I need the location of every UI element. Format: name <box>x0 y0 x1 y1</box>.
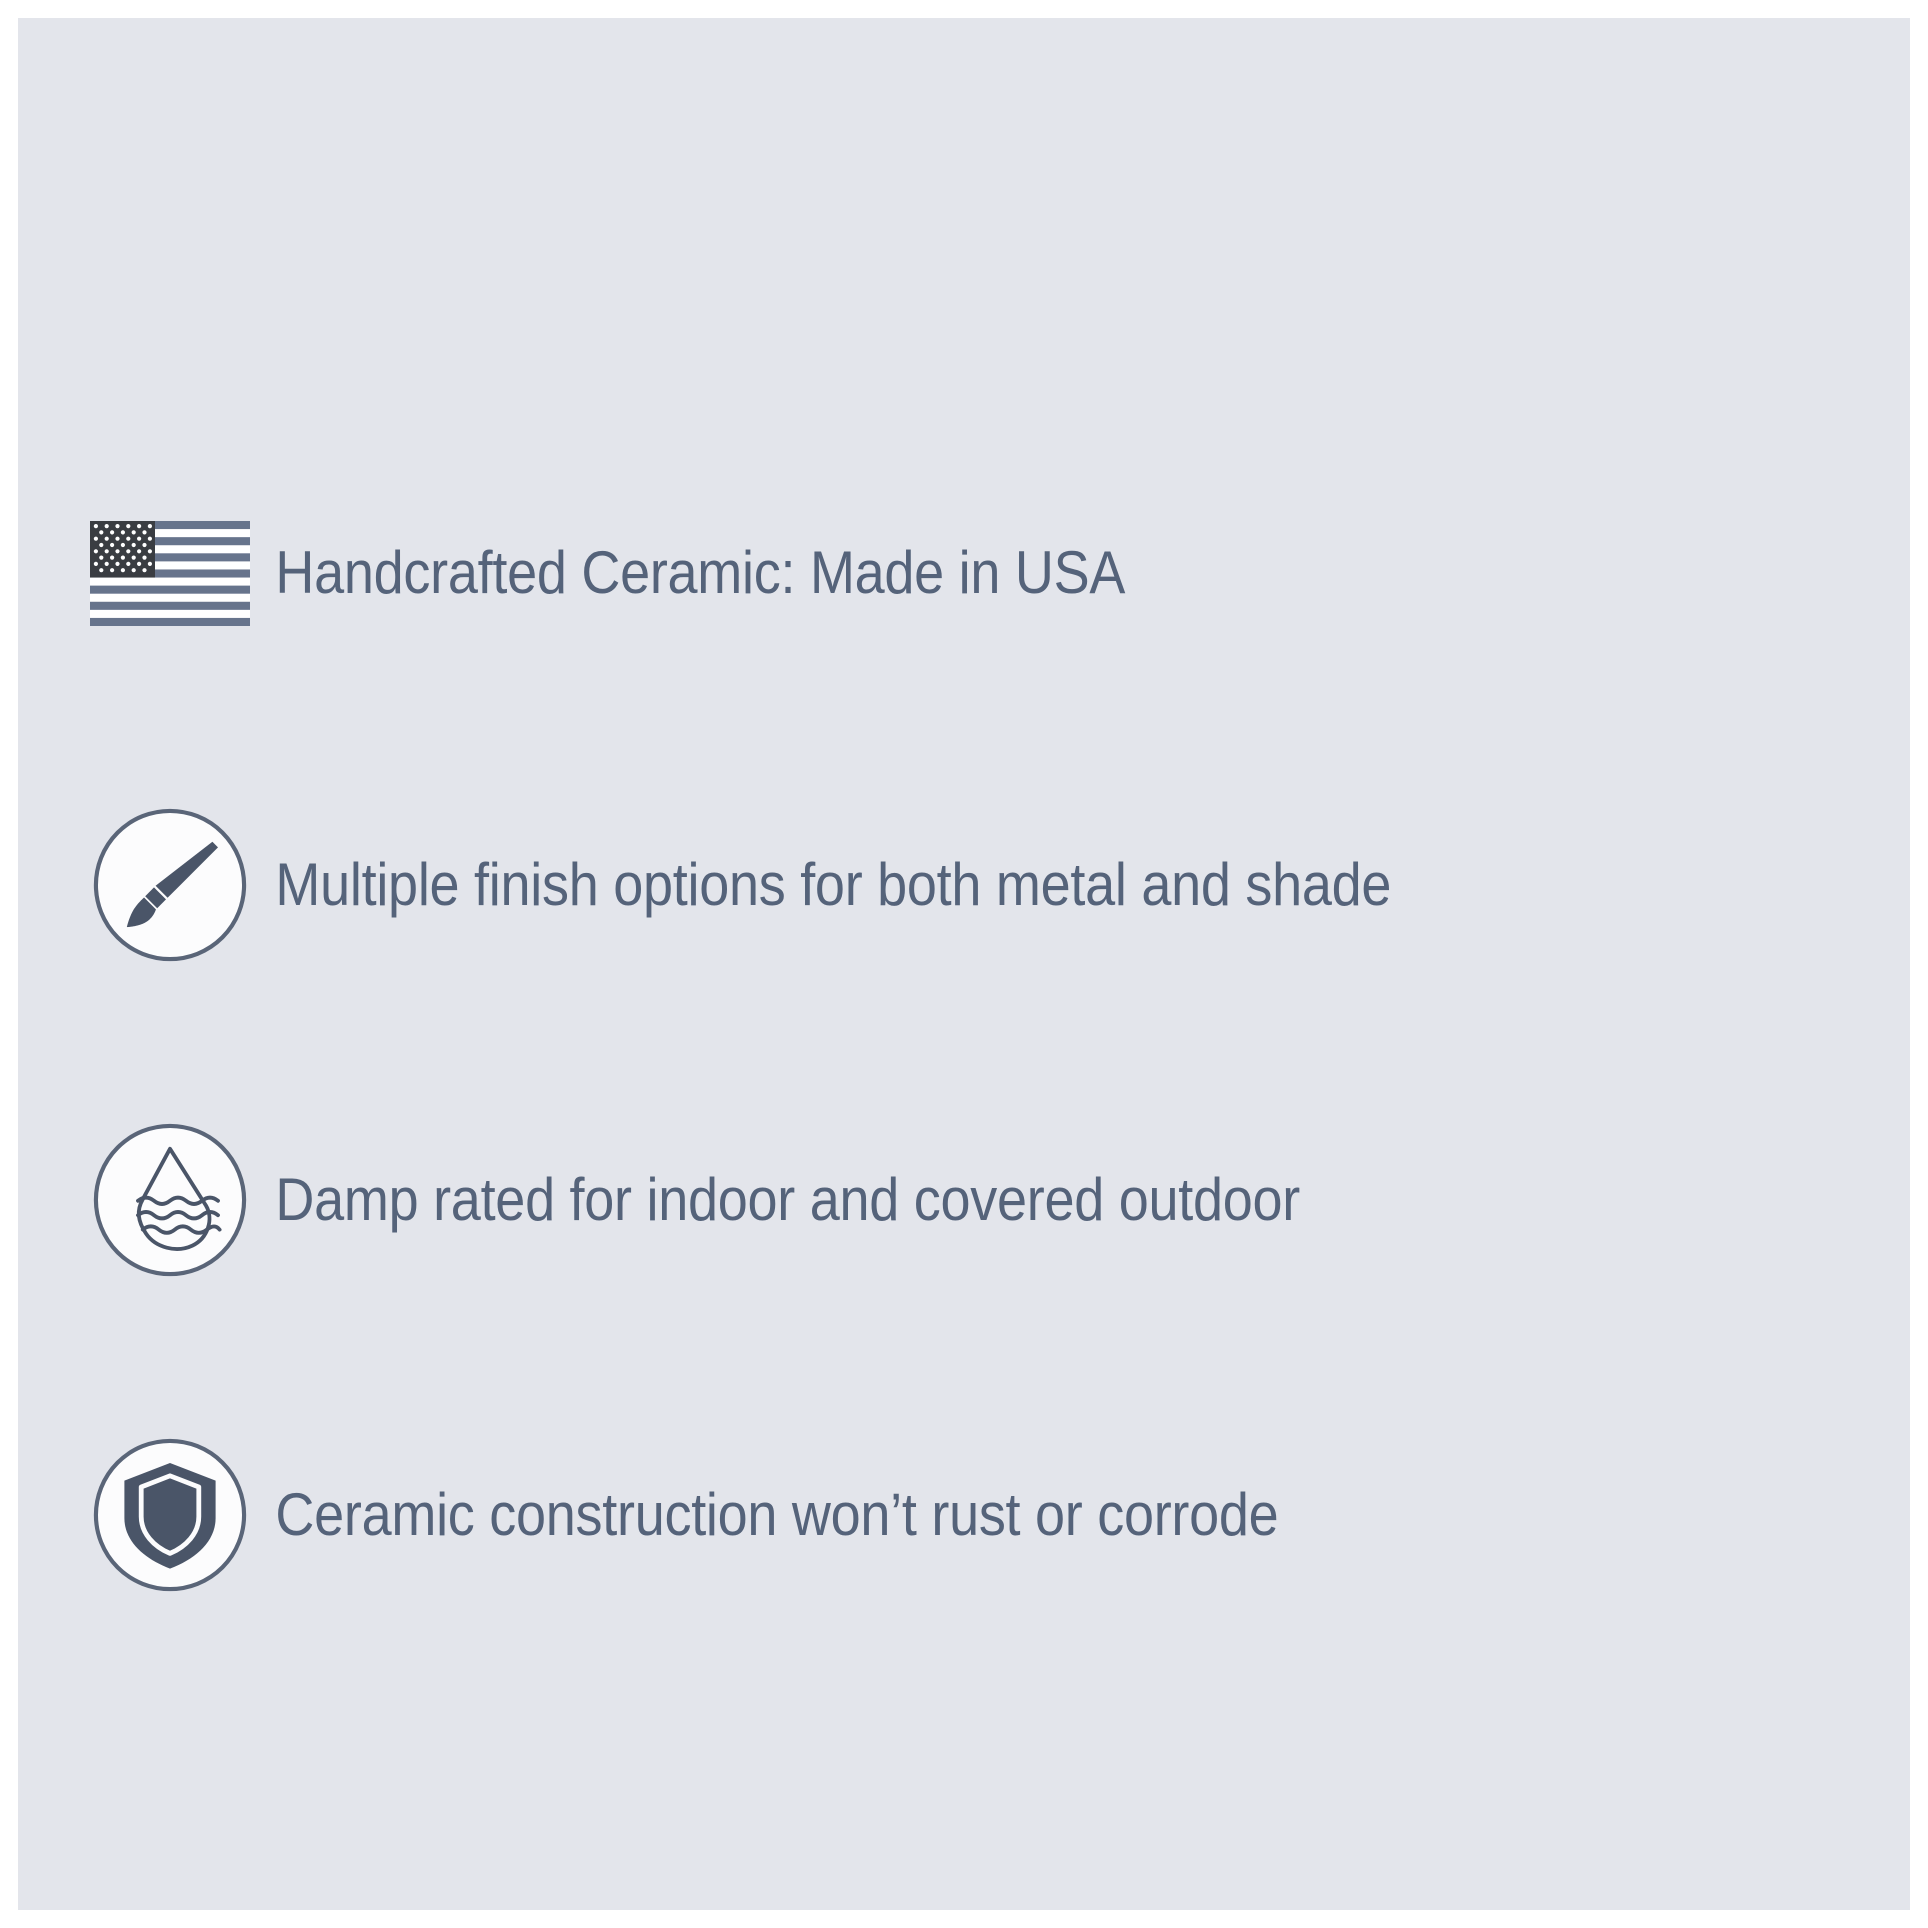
feature-label: Damp rated for indoor and covered outdoo… <box>270 1166 1300 1233</box>
water-drop-icon <box>90 1120 250 1280</box>
paintbrush-icon <box>90 805 250 965</box>
feature-panel: Handcrafted Ceramic: Made in USA Mu <box>18 18 1910 1910</box>
feature-list: Handcrafted Ceramic: Made in USA Mu <box>18 18 1910 1910</box>
usa-flag-icon <box>90 521 250 626</box>
feature-row: Ceramic construction won’t rust or corro… <box>70 1420 1870 1610</box>
feature-icon-slot <box>70 1105 270 1295</box>
feature-label: Multiple finish options for both metal a… <box>270 851 1391 918</box>
feature-row: Handcrafted Ceramic: Made in USA <box>70 478 1870 668</box>
shield-icon <box>90 1435 250 1595</box>
feature-icon-slot <box>70 790 270 980</box>
feature-icon-slot <box>70 1420 270 1610</box>
feature-icon-slot <box>70 478 270 668</box>
feature-row: Multiple finish options for both metal a… <box>70 790 1870 980</box>
feature-row: Damp rated for indoor and covered outdoo… <box>70 1105 1870 1295</box>
feature-label: Handcrafted Ceramic: Made in USA <box>270 539 1125 606</box>
feature-label: Ceramic construction won’t rust or corro… <box>270 1481 1278 1548</box>
